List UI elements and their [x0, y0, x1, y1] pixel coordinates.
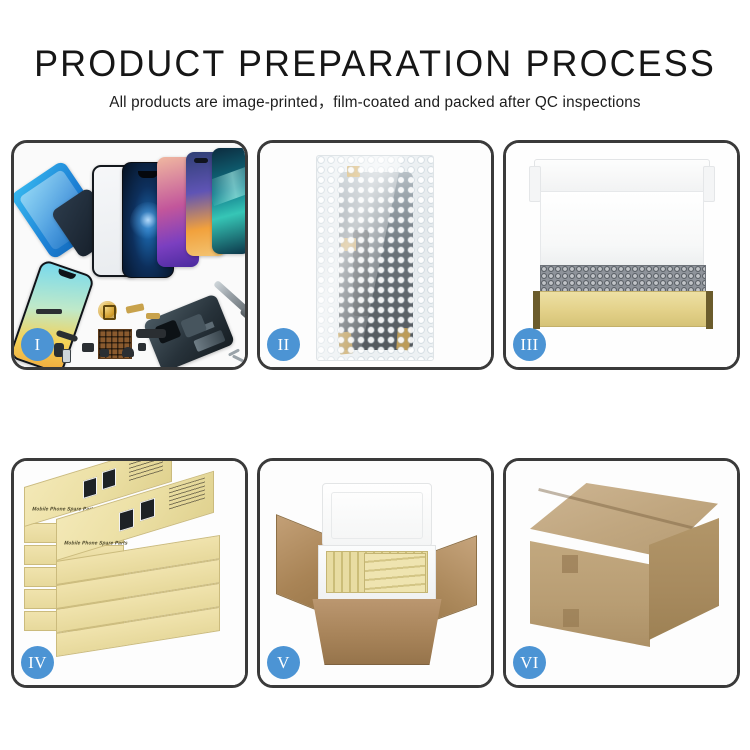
carton-left-face — [530, 541, 650, 647]
part-battery-icon — [62, 349, 71, 363]
step-card-2: II — [257, 140, 494, 370]
header: PRODUCT PREPARATION PROCESS All products… — [0, 42, 750, 113]
flex-cable-wide-icon — [136, 329, 166, 338]
step-badge-6: VI — [513, 646, 546, 679]
step-badge-5: V — [267, 646, 300, 679]
box-spec-lines-2 — [169, 477, 205, 511]
step-badge-2: II — [267, 328, 300, 361]
step-card-4: Mobile Phone Spare Parts Mobile Phone Sp… — [11, 458, 248, 688]
step-badge-3: III — [513, 328, 546, 361]
step-badge-1: I — [21, 328, 54, 361]
box-front-panel — [533, 291, 713, 327]
part-camera-icon — [122, 347, 134, 357]
page-subtitle: All products are image-printed，film-coat… — [0, 93, 750, 113]
step-card-5: V — [257, 458, 494, 688]
teal-phone-icon — [212, 148, 248, 254]
step-card-6: VI — [503, 458, 740, 688]
carton-tape-lower — [563, 609, 579, 627]
speaker-coil-icon — [98, 301, 117, 320]
box-spec-lines-1 — [129, 458, 163, 482]
carton-front-panel — [302, 599, 452, 665]
step-card-1: I — [11, 140, 248, 370]
part-gold-connector-icon — [125, 303, 144, 314]
box-stack: Mobile Phone Spare Parts Mobile Phone Sp… — [20, 475, 242, 680]
box-thumb-1b — [102, 468, 116, 490]
box-thumb-1a — [83, 477, 97, 499]
step-card-3: III — [503, 140, 740, 370]
grey-bubble-pad — [540, 265, 706, 293]
step-badge-4: IV — [21, 646, 54, 679]
page-title: PRODUCT PREPARATION PROCESS — [11, 42, 739, 86]
box-thumb-2b — [140, 498, 155, 522]
box-label-2: Mobile Phone Spare Parts — [63, 540, 128, 546]
box-thumb-2a — [119, 508, 134, 532]
bubble-wrap-bag — [316, 155, 434, 361]
part-square-icon — [100, 349, 109, 357]
part-strip-icon — [36, 309, 62, 314]
product-preparation-infographic: PRODUCT PREPARATION PROCESS All products… — [0, 0, 750, 750]
yellow-packs-stack — [364, 553, 426, 593]
process-steps-grid: I II — [11, 140, 740, 688]
part-chip-icon — [138, 343, 146, 351]
part-gold-clip-icon — [146, 313, 160, 319]
carton-tape-upper — [562, 555, 578, 573]
foam-cooler-lid — [322, 483, 432, 547]
screw-alt-icon — [232, 355, 244, 363]
foam-sheet — [540, 191, 704, 269]
part-block-icon — [82, 343, 94, 352]
